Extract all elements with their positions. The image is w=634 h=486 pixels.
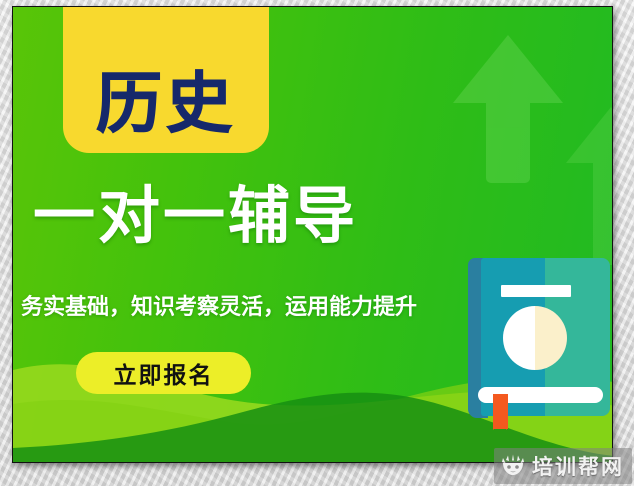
- book-title-bar: [501, 285, 571, 297]
- enroll-now-label: 立即报名: [114, 356, 214, 390]
- enroll-now-button[interactable]: 立即报名: [76, 352, 251, 394]
- textbook-illustration: [468, 256, 613, 427]
- page-title: 一对一辅导: [33, 185, 493, 247]
- book-bookmark-ribbon: [493, 394, 508, 429]
- subject-badge: 历史: [63, 6, 269, 153]
- promo-banner: 历史 一对一辅导 务实基础，知识考察灵活，运用能力提升 立即报名: [12, 6, 613, 463]
- up-arrow-icon: [453, 35, 563, 180]
- banner-subtitle: 务实基础，知识考察灵活，运用能力提升: [21, 295, 471, 321]
- sun-face-icon: [500, 454, 526, 478]
- up-arrow-secondary-icon: [566, 107, 613, 267]
- watermark-text: 培训帮网: [532, 451, 624, 481]
- subject-badge-label: 历史: [96, 71, 236, 137]
- site-watermark: 培训帮网: [494, 448, 632, 484]
